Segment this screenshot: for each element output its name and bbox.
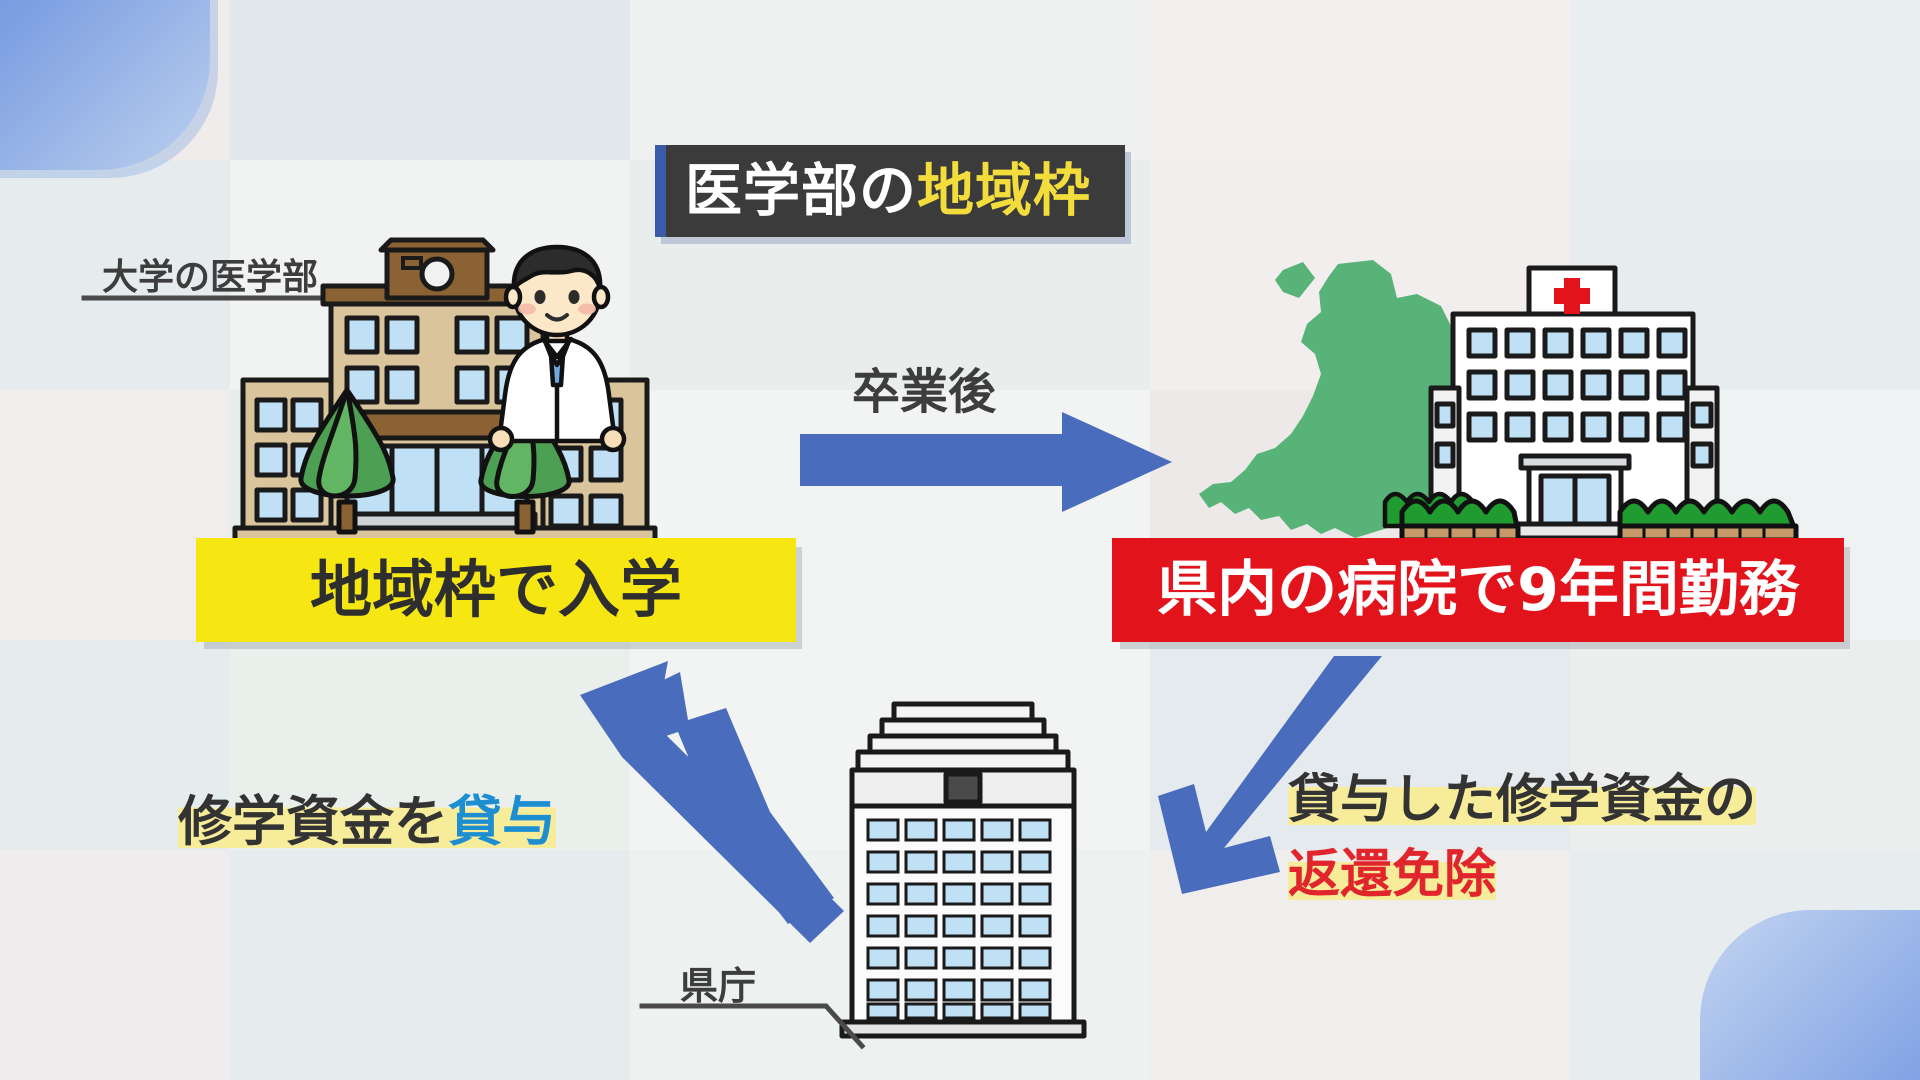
title-text-main: 医学部の [685, 158, 917, 224]
note-exempt-line2: 返還免除 [1288, 845, 1496, 905]
hedge-row-right-icon [1618, 482, 1798, 542]
background-tile [1570, 0, 1920, 160]
title-banner: 医学部の地域枠 [655, 145, 1125, 237]
note-loan-highlight-wrap: 修学資金を貸与 [178, 790, 556, 853]
note-exempt-line2-wrap: 返還免除 [1288, 845, 1756, 906]
background-tile [1150, 0, 1570, 160]
arrow-right-icon [800, 412, 1180, 532]
note-exempt-line1-wrap: 貸与した修学資金の [1288, 770, 1756, 831]
banner-work-text: 県内の病院で9年間勤務 [1157, 560, 1799, 620]
note-exempt-line1: 貸与した修学資金の [1288, 770, 1756, 830]
note-loan: 修学資金を貸与 [178, 790, 556, 854]
title-text-highlight: 地域枠 [917, 158, 1091, 224]
banner-enroll: 地域枠で入学 [196, 538, 796, 642]
note-loan-prefix: 修学資金を [178, 790, 448, 853]
background-tile [230, 0, 630, 160]
background-tile [630, 0, 1150, 160]
banner-enroll-text: 地域枠で入学 [310, 559, 682, 621]
note-loan-keyword: 貸与 [448, 790, 556, 853]
doctor-character-icon [485, 245, 630, 450]
banner-work: 県内の病院で9年間勤務 [1112, 538, 1844, 642]
hedge-row-left-icon [1400, 482, 1520, 542]
infographic-canvas: 医学部の地域枠 大学の医学部 [0, 0, 1920, 1080]
prefectural-office-building-icon [838, 700, 1088, 1040]
note-exempt: 貸与した修学資金の 返還免除 [1288, 770, 1756, 907]
background-tile [0, 850, 230, 1080]
pointer-line-prefectural-office [640, 998, 870, 1058]
arrow-up-left-shaft-icon [570, 655, 860, 945]
